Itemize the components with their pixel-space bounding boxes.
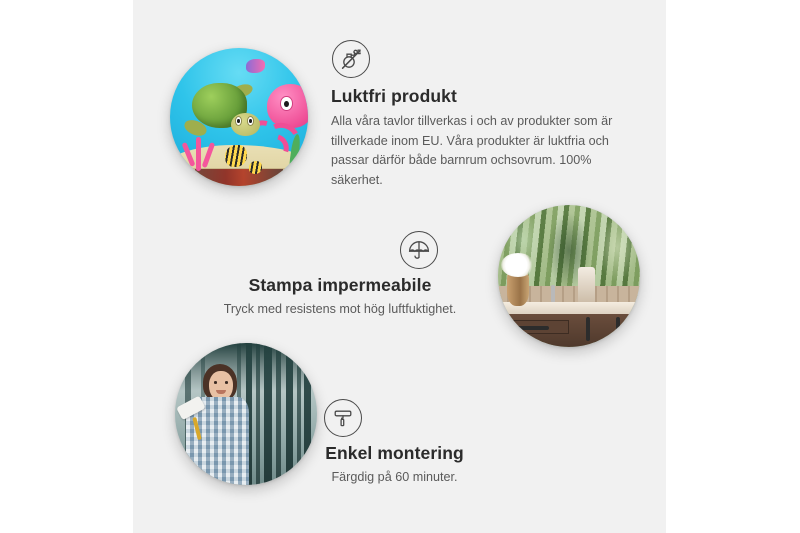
yellow-fish bbox=[249, 161, 263, 173]
paint-roller-icon bbox=[324, 399, 362, 437]
umbrella-icon bbox=[400, 231, 438, 269]
woman-smile bbox=[216, 390, 226, 394]
ocean-scene bbox=[170, 48, 308, 186]
feature-easy-mounting: Enkel montering Färgdig på 60 minuter. bbox=[262, 399, 527, 488]
feature-description: Tryck med resistens mot hög luftfuktighe… bbox=[195, 300, 485, 320]
faucet bbox=[551, 285, 555, 303]
bathroom-scene bbox=[498, 205, 640, 347]
purple-fish bbox=[246, 59, 265, 73]
image-bathroom-mural bbox=[498, 205, 640, 347]
turtle-eye bbox=[247, 116, 255, 126]
feature-title: Stampa impermeabile bbox=[195, 275, 485, 296]
feature-description: Alla våra tavlor tillverkas i och av pro… bbox=[331, 112, 621, 190]
cabinet-handle bbox=[586, 317, 590, 341]
image-ocean-mural bbox=[170, 48, 308, 186]
soap-dispenser bbox=[578, 267, 595, 304]
forest-canopy bbox=[175, 343, 317, 391]
feature-title: Enkel montering bbox=[262, 443, 527, 464]
feature-title: Luktfri produkt bbox=[331, 86, 621, 107]
shipwreck-strip bbox=[195, 169, 283, 186]
no-scent-spray-bottle-icon bbox=[332, 40, 370, 78]
feature-waterproof-print: Stampa impermeabile Tryck med resistens … bbox=[195, 231, 485, 320]
drawer-handle bbox=[512, 326, 549, 330]
yellow-fish bbox=[225, 145, 247, 167]
woman-eye bbox=[225, 381, 228, 384]
promo-panel: Luktfri produkt Alla våra tavlor tillver… bbox=[0, 0, 800, 533]
cabinet-handle bbox=[616, 317, 620, 341]
feature-description: Färgdig på 60 minuter. bbox=[262, 468, 527, 488]
feature-odor-free: Luktfri produkt Alla våra tavlor tillver… bbox=[331, 40, 621, 190]
